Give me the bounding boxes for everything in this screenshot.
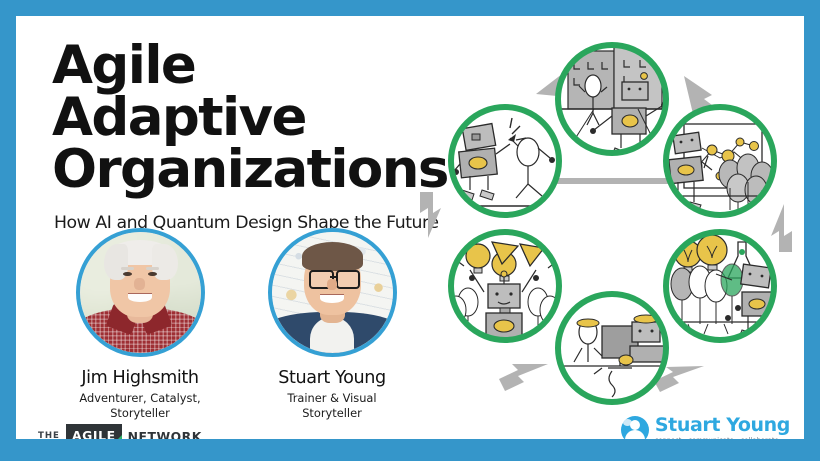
speaker-name-jim: Jim Highsmith	[66, 368, 214, 388]
title-line-1: Agile Adaptive	[52, 35, 306, 148]
title-line-2: Organizations	[52, 144, 440, 196]
agile-network-network: NETWORK	[128, 429, 202, 440]
cycle-node-bottom	[558, 294, 672, 402]
cycle-node-left-lower	[446, 232, 562, 347]
speaker-card-stuart: Stuart Young Trainer & Visual Storytelle…	[258, 228, 406, 420]
cycle-node-top	[558, 42, 667, 157]
avatar-stuart	[268, 228, 397, 357]
agile-network-agile: AGILE	[72, 428, 116, 439]
speaker-role-stuart-line1: Trainer & Visual	[258, 391, 406, 406]
arrow-bot-to-ll	[499, 364, 548, 391]
avatar-photo-stuart	[272, 232, 393, 353]
arrow-ru-to-rl	[771, 204, 792, 252]
cycle-node-right-lower	[666, 232, 774, 340]
cycle-graphic	[416, 16, 804, 426]
speaker-name-stuart: Stuart Young	[258, 368, 406, 388]
agile-network-badge: AGILE	[66, 424, 122, 439]
speaker-role-jim-line2: Storyteller	[66, 406, 214, 421]
slide-frame: Agile Adaptive Organizations How AI and …	[0, 0, 820, 461]
page-title: Agile Adaptive Organizations	[36, 26, 440, 196]
speaker-role-stuart-line2: Storyteller	[258, 406, 406, 421]
agile-network-logo: THE AGILE NETWORK	[38, 424, 202, 439]
cycle-node-left-upper	[448, 107, 559, 215]
speaker-card-jim: Jim Highsmith Adventurer, Catalyst, Stor…	[66, 228, 214, 420]
cycle-connector-bar	[538, 178, 688, 184]
cycle-svg	[416, 16, 804, 426]
avatar-jim	[76, 228, 205, 357]
avatar-photo-jim	[80, 232, 201, 353]
speaker-role-jim-line1: Adventurer, Catalyst,	[66, 391, 214, 406]
speaker-role-stuart: Trainer & Visual Storyteller	[258, 391, 406, 420]
speaker-list: Jim Highsmith Adventurer, Catalyst, Stor…	[66, 228, 406, 420]
cycle-node-right-upper	[663, 107, 774, 215]
speaker-role-jim: Adventurer, Catalyst, Storyteller	[66, 391, 214, 420]
stuart-young-logo-tagline: connect · communicate · collaborate	[655, 438, 790, 439]
slide-canvas: Agile Adaptive Organizations How AI and …	[16, 16, 804, 439]
arrow-ll-to-lu	[420, 192, 441, 238]
agile-network-the: THE	[38, 431, 60, 439]
